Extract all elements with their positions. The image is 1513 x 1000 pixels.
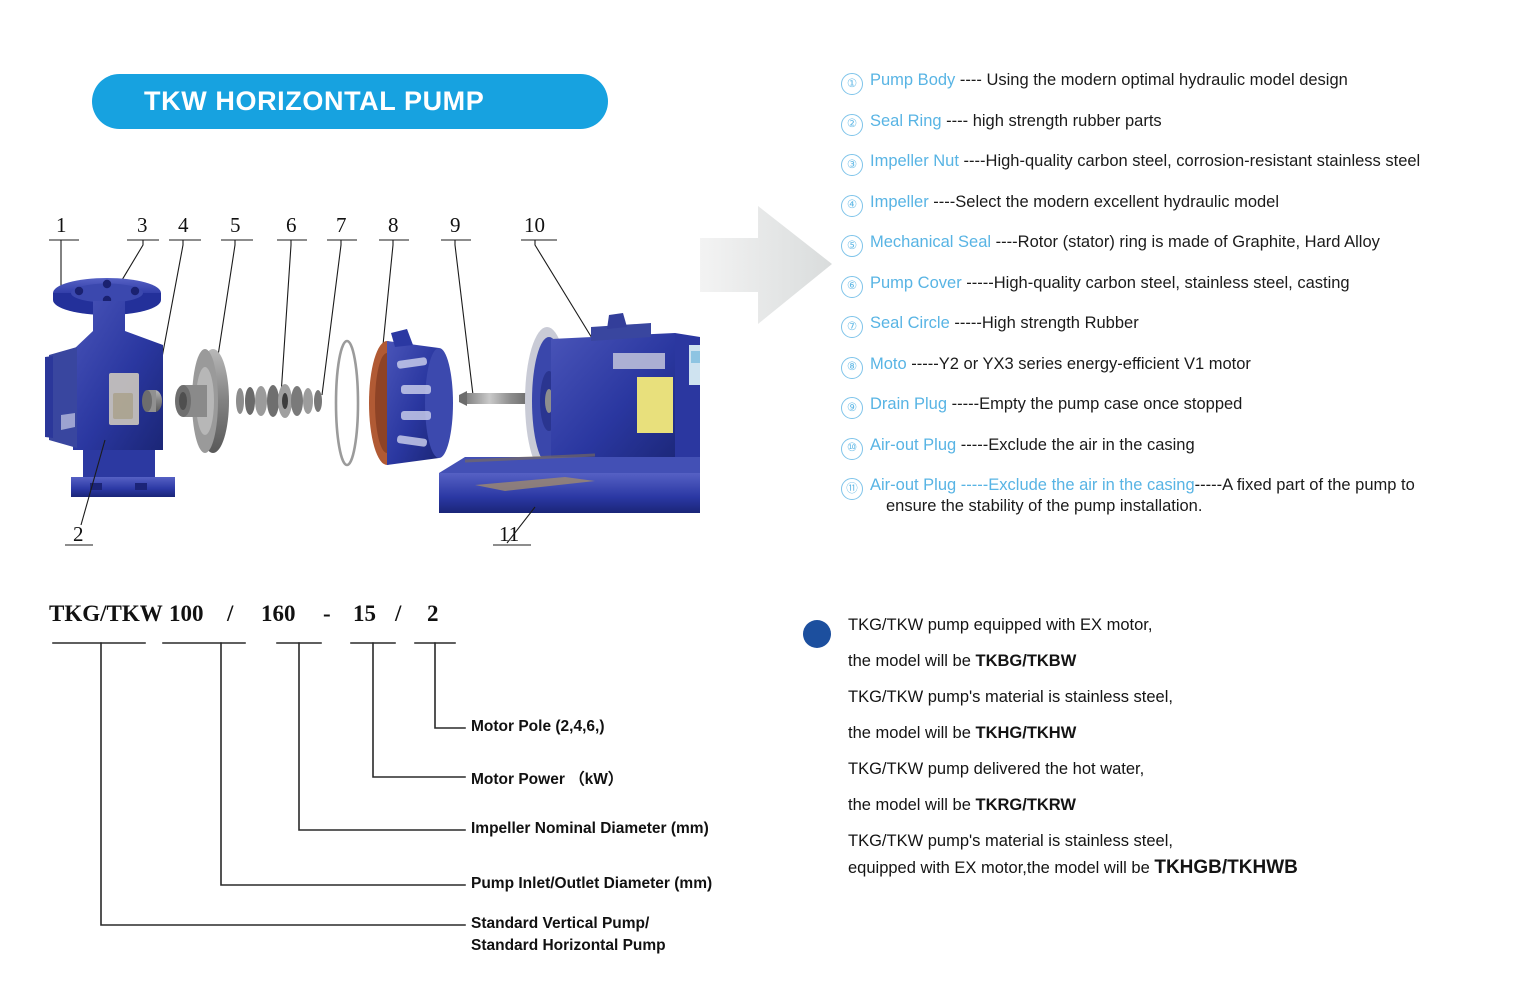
part-motor xyxy=(439,313,700,513)
legend-desc-blue: Exclude the air in the casing xyxy=(988,476,1194,494)
model-desc-motor-pole: Motor Pole (2,4,6,) xyxy=(471,718,605,736)
legend-number-icon: ⑧ xyxy=(841,357,863,379)
model-code-breakdown: TKG/TKW 100 / 160 - 15 / 2 Motor Pole (2… xyxy=(35,595,735,965)
model-desc-impeller-diameter: Impeller Nominal Diameter (mm) xyxy=(471,820,709,838)
legend-desc: High-quality carbon steel, stainless ste… xyxy=(994,274,1350,292)
model-desc-standard-vertical: Standard Vertical Pump/ xyxy=(471,915,649,933)
callout-9: 9 xyxy=(450,213,461,238)
notes-body: TKG/TKW pump equipped with EX motor, the… xyxy=(848,616,1423,879)
legend-label: Drain Plug xyxy=(870,395,947,413)
note-text: the model will be xyxy=(848,796,975,814)
legend-number-icon: ⑥ xyxy=(841,276,863,298)
model-desc-inlet-diameter: Pump Inlet/Outlet Diameter (mm) xyxy=(471,875,712,893)
note-model-final: TKHGB/TKHWB xyxy=(1154,857,1298,878)
legend-number-icon: ③ xyxy=(841,154,863,176)
legend-number-icon: ⑩ xyxy=(841,438,863,460)
exploded-pump-diagram: 1 3 4 5 6 7 8 9 10 2 11 xyxy=(35,205,700,565)
page-title: TKW HORIZONTAL PUMP xyxy=(144,86,484,117)
legend-dash: ----- xyxy=(962,274,994,292)
part-seal-circle xyxy=(336,341,358,465)
legend-desc: Empty the pump case once stopped xyxy=(979,395,1242,413)
legend-desc: Exclude the air in the casing xyxy=(988,436,1194,454)
legend-dash: ---- xyxy=(942,112,973,130)
legend-dash: ----- xyxy=(956,476,988,494)
legend-item-4: ④ Impeller ----Select the modern excelle… xyxy=(841,192,1501,217)
legend-item-7: ⑦ Seal Circle -----High strength Rubber xyxy=(841,313,1501,338)
legend-text: Mechanical Seal ----Rotor (stator) ring … xyxy=(870,232,1380,253)
model-code-slash-1: / xyxy=(227,601,233,627)
legend-dash: ---- xyxy=(955,71,986,89)
callout-6: 6 xyxy=(286,213,297,238)
model-code-power: 15 xyxy=(353,601,376,627)
pump-illustration xyxy=(35,205,700,565)
legend-label: Impeller Nut xyxy=(870,152,959,170)
legend-dash: ----- xyxy=(907,355,939,373)
legend-item-3: ③ Impeller Nut ----High-quality carbon s… xyxy=(841,151,1501,176)
legend-item-1: ① Pump Body ---- Using the modern optima… xyxy=(841,70,1501,95)
legend-dash: ----- xyxy=(947,395,979,413)
callout-8: 8 xyxy=(388,213,399,238)
legend-desc: Select the modern excellent hydraulic mo… xyxy=(955,193,1279,211)
legend-label: Moto xyxy=(870,355,907,373)
legend-desc-line2: ensure the stability of the pump install… xyxy=(886,496,1415,517)
note-text: TKG/TKW pump delivered the hot water, xyxy=(848,760,1144,778)
note-model: TKHG/TKHW xyxy=(975,724,1076,742)
callout-5: 5 xyxy=(230,213,241,238)
legend-text: Drain Plug -----Empty the pump case once… xyxy=(870,394,1242,415)
legend-label: Pump Body xyxy=(870,71,955,89)
model-code-impeller: 160 xyxy=(261,601,296,627)
legend-text: Impeller ----Select the modern excellent… xyxy=(870,192,1279,213)
note-line-4: the model will be TKHG/TKHW xyxy=(848,724,1423,743)
legend-label: Mechanical Seal xyxy=(870,233,991,251)
callout-11: 11 xyxy=(499,522,519,547)
legend-number-icon: ② xyxy=(841,114,863,136)
legend-number-icon: ④ xyxy=(841,195,863,217)
model-code-slash-2: / xyxy=(395,601,401,627)
note-text: the model will be xyxy=(848,724,975,742)
callout-10: 10 xyxy=(524,213,545,238)
legend-dash: ----- xyxy=(956,436,988,454)
callout-1: 1 xyxy=(56,213,67,238)
legend-dash-2: ----- xyxy=(1195,476,1222,494)
legend-number-icon: ⑨ xyxy=(841,397,863,419)
model-desc-motor-power: Motor Power （kW） xyxy=(471,767,623,789)
legend-dash: ---- xyxy=(991,233,1018,251)
legend-label: Air-out Plug xyxy=(870,476,956,494)
part-pump-body xyxy=(45,278,175,497)
legend-desc: High strength Rubber xyxy=(982,314,1139,332)
note-line-7: TKG/TKW pump's material is stainless ste… xyxy=(848,832,1423,851)
model-code-inlet: 100 xyxy=(169,601,204,627)
note-line-5: TKG/TKW pump delivered the hot water, xyxy=(848,760,1423,779)
legend-number-icon: ① xyxy=(841,73,863,95)
model-code-hyphen: - xyxy=(323,601,331,627)
note-text: TKG/TKW pump's material is stainless ste… xyxy=(848,832,1173,850)
legend-number-icon: ⑪ xyxy=(841,478,863,500)
legend-text: Air-out Plug -----Exclude the air in the… xyxy=(870,435,1195,456)
legend-dash: ---- xyxy=(929,193,956,211)
model-leader-lines xyxy=(35,595,735,965)
legend-item-6: ⑥ Pump Cover -----High-quality carbon st… xyxy=(841,273,1501,298)
legend-dash: ----- xyxy=(950,314,982,332)
note-text: equipped with EX motor,the model will be xyxy=(848,859,1154,877)
part-impeller-nut xyxy=(142,390,162,412)
legend-text: Moto -----Y2 or YX3 series energy-effici… xyxy=(870,354,1251,375)
note-line-2: the model will be TKBG/TKBW xyxy=(848,652,1423,671)
callout-4: 4 xyxy=(178,213,189,238)
legend-desc: Y2 or YX3 series energy-efficient V1 mot… xyxy=(939,355,1251,373)
model-code-pole: 2 xyxy=(427,601,439,627)
legend-label: Air-out Plug xyxy=(870,436,956,454)
legend-label: Impeller xyxy=(870,193,929,211)
legend-item-5: ⑤ Mechanical Seal ----Rotor (stator) rin… xyxy=(841,232,1501,257)
legend-text: Seal Ring ---- high strength rubber part… xyxy=(870,111,1162,132)
legend-text: Impeller Nut ----High-quality carbon ste… xyxy=(870,151,1420,172)
flow-arrow xyxy=(700,200,840,330)
legend-text: Pump Cover -----High-quality carbon stee… xyxy=(870,273,1350,294)
part-mechanical-seal-stack xyxy=(236,384,322,418)
legend-text: Pump Body ---- Using the modern optimal … xyxy=(870,70,1348,91)
legend-desc: Using the modern optimal hydraulic model… xyxy=(986,71,1347,89)
legend-desc: high strength rubber parts xyxy=(973,112,1162,130)
note-line-3: TKG/TKW pump's material is stainless ste… xyxy=(848,688,1423,707)
part-impeller xyxy=(175,349,229,453)
legend-item-9: ⑨ Drain Plug -----Empty the pump case on… xyxy=(841,394,1501,419)
legend-item-10: ⑩ Air-out Plug -----Exclude the air in t… xyxy=(841,435,1501,460)
legend-desc: High-quality carbon steel, corrosion-res… xyxy=(986,152,1421,170)
model-variant-notes: TKG/TKW pump equipped with EX motor, the… xyxy=(803,616,1423,896)
page-title-banner: TKW HORIZONTAL PUMP xyxy=(92,74,608,129)
legend-item-2: ② Seal Ring ---- high strength rubber pa… xyxy=(841,111,1501,136)
legend-item-8: ⑧ Moto -----Y2 or YX3 series energy-effi… xyxy=(841,354,1501,379)
note-text: TKG/TKW pump equipped with EX motor, xyxy=(848,616,1152,634)
note-text: TKG/TKW pump's material is stainless ste… xyxy=(848,688,1173,706)
legend-dash: ---- xyxy=(959,152,986,170)
bullet-dot-icon xyxy=(803,620,831,648)
model-desc-standard-horizontal: Standard Horizontal Pump xyxy=(471,937,666,955)
legend-text: Seal Circle -----High strength Rubber xyxy=(870,313,1139,334)
part-pump-cover xyxy=(369,329,453,465)
note-line-1: TKG/TKW pump equipped with EX motor, xyxy=(848,616,1423,635)
callout-3: 3 xyxy=(137,213,148,238)
legend-label: Seal Circle xyxy=(870,314,950,332)
legend-item-11: ⑪ Air-out Plug -----Exclude the air in t… xyxy=(841,475,1501,517)
callout-7: 7 xyxy=(336,213,347,238)
legend-desc: A fixed part of the pump to xyxy=(1222,476,1415,494)
note-model: TKBG/TKBW xyxy=(975,652,1076,670)
parts-legend: ① Pump Body ---- Using the modern optima… xyxy=(841,70,1501,533)
note-text: the model will be xyxy=(848,652,975,670)
legend-number-icon: ⑤ xyxy=(841,235,863,257)
note-model: TKRG/TKRW xyxy=(975,796,1076,814)
callout-2: 2 xyxy=(73,522,84,547)
note-line-8: equipped with EX motor,the model will be… xyxy=(848,857,1423,879)
note-line-6: the model will be TKRG/TKRW xyxy=(848,796,1423,815)
model-code-prefix: TKG/TKW xyxy=(49,601,163,627)
legend-text: Air-out Plug -----Exclude the air in the… xyxy=(870,475,1415,517)
legend-desc: Rotor (stator) ring is made of Graphite,… xyxy=(1018,233,1380,251)
legend-label: Seal Ring xyxy=(870,112,942,130)
legend-label: Pump Cover xyxy=(870,274,962,292)
legend-number-icon: ⑦ xyxy=(841,316,863,338)
